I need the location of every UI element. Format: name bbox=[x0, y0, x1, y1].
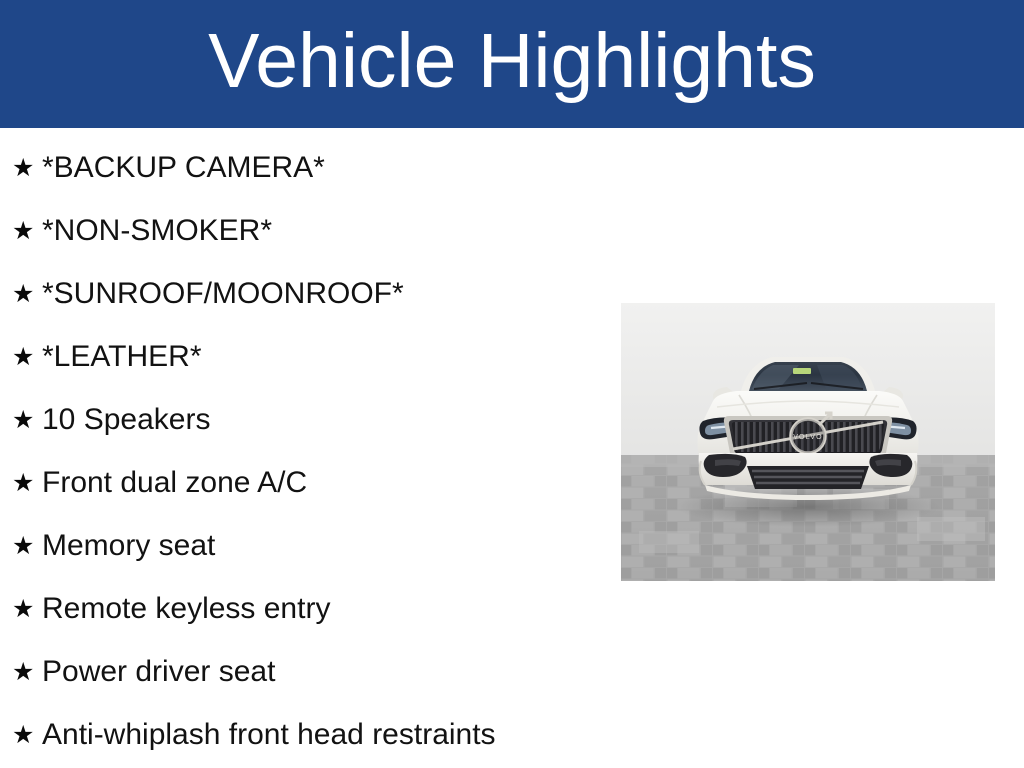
star-icon: ★ bbox=[12, 722, 42, 747]
list-item: ★ Front dual zone A/C bbox=[0, 451, 600, 514]
list-item-label: Anti-whiplash front head restraints bbox=[42, 720, 496, 750]
vehicle-photo: VOLVO bbox=[621, 303, 995, 581]
list-item: ★ Anti-whiplash front head restraints bbox=[0, 703, 600, 766]
list-item: ★ *SUNROOF/MOONROOF* bbox=[0, 262, 600, 325]
list-item-label: Remote keyless entry bbox=[42, 594, 330, 624]
star-icon: ★ bbox=[12, 659, 42, 684]
list-item-label: Memory seat bbox=[42, 531, 215, 561]
list-item: ★ *BACKUP CAMERA* bbox=[0, 136, 600, 199]
list-item: ★ *NON-SMOKER* bbox=[0, 199, 600, 262]
list-item: ★ 10 Speakers bbox=[0, 388, 600, 451]
header-banner: Vehicle Highlights bbox=[0, 0, 1024, 128]
star-icon: ★ bbox=[12, 533, 42, 558]
list-item-label: *BACKUP CAMERA* bbox=[42, 153, 325, 183]
svg-text:VOLVO: VOLVO bbox=[793, 434, 823, 441]
star-icon: ★ bbox=[12, 281, 42, 306]
list-item: ★ Remote keyless entry bbox=[0, 577, 600, 640]
list-item: ★ Power driver seat bbox=[0, 640, 600, 703]
list-item: ★ Memory seat bbox=[0, 514, 600, 577]
list-item-label: *NON-SMOKER* bbox=[42, 216, 272, 246]
page-title: Vehicle Highlights bbox=[208, 23, 816, 106]
list-item-label: *LEATHER* bbox=[42, 342, 202, 372]
list-item-label: 10 Speakers bbox=[42, 405, 210, 435]
vehicle-highlights-list: ★ *BACKUP CAMERA* ★ *NON-SMOKER* ★ *SUNR… bbox=[0, 136, 600, 766]
star-icon: ★ bbox=[12, 344, 42, 369]
list-item: ★ *LEATHER* bbox=[0, 325, 600, 388]
star-icon: ★ bbox=[12, 470, 42, 495]
slide-root: Vehicle Highlights ★ *BACKUP CAMERA* ★ *… bbox=[0, 0, 1024, 768]
star-icon: ★ bbox=[12, 155, 42, 180]
list-item-label: Power driver seat bbox=[42, 657, 275, 687]
list-item-label: Front dual zone A/C bbox=[42, 468, 307, 498]
star-icon: ★ bbox=[12, 218, 42, 243]
star-icon: ★ bbox=[12, 407, 42, 432]
list-item-label: *SUNROOF/MOONROOF* bbox=[42, 279, 404, 309]
star-icon: ★ bbox=[12, 596, 42, 621]
